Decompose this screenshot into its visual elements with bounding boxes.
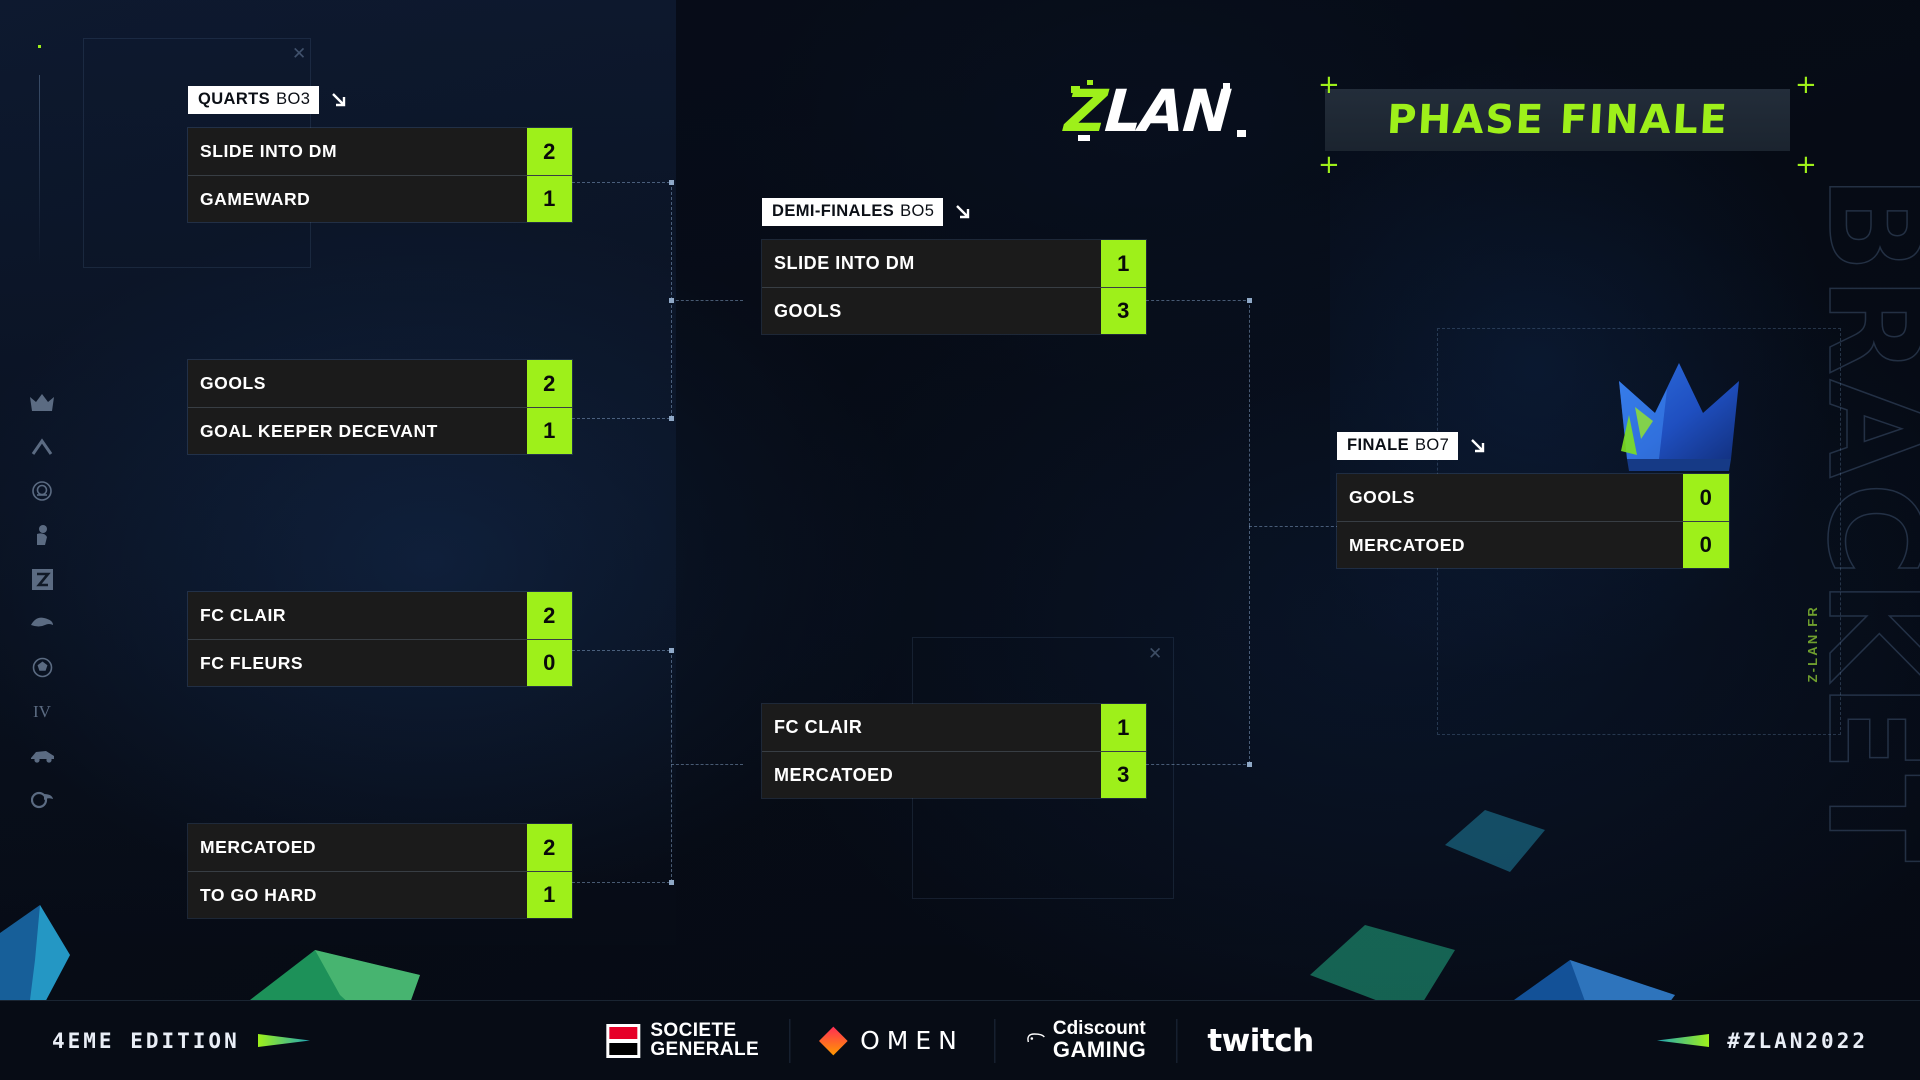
round-name-finale: FINALE [1347,436,1409,455]
round-chip-finale: FINALE BO7 [1337,432,1458,460]
crown-icon[interactable] [29,390,55,416]
match-card-qf4[interactable]: MERCATOED 2 TO GO HARD 1 [188,824,572,918]
team-score: 1 [1101,240,1146,287]
connector-qf4 [572,882,670,883]
round-label-demifinales: DEMI-FINALES BO5 [762,198,973,226]
match-row[interactable]: MERCATOED 3 [762,751,1146,798]
sidebar-icon-list: IV [22,390,62,812]
zlan-logo-z: Z [1063,82,1107,140]
connector-v-top [671,182,672,300]
match-card-sf1[interactable]: SLIDE INTO DM 1 GOOLS 3 [762,240,1146,334]
match-row[interactable]: GOOLS 3 [762,287,1146,334]
team-name: TO GO HARD [188,872,527,918]
phase-title-panel: PHASE FINALE [1325,89,1790,151]
sponsor-line1: Cdiscount [1053,1018,1146,1039]
match-row[interactable]: TO GO HARD 1 [188,871,572,918]
team-score: 3 [1101,752,1146,798]
team-name: GOOLS [188,360,527,407]
logo-glitch-3 [1223,83,1230,89]
phase-title: PHASE FINALE [1386,97,1730,143]
corner-plus-bottom-left: + [1318,152,1340,178]
gradient-arrow-left-icon [1657,1032,1709,1049]
zlan-logo-lan: LAN [1103,82,1231,140]
match-row[interactable]: MERCATOED 2 [188,824,572,871]
omen-diamond-icon [819,1026,848,1055]
team-score: 2 [527,824,572,871]
round-format-finale: BO7 [1415,436,1449,455]
connector-qf1 [572,182,670,183]
team-score: 1 [527,176,572,222]
numeral-four-icon[interactable]: IV [29,698,55,724]
connector-sf2 [1146,764,1251,765]
corner-plus-top-left: + [1318,72,1340,98]
connector-qf2 [572,418,670,419]
sponsor-label: twitch [1207,1023,1313,1059]
hashtag-label: #ZLAN2022 [1727,1029,1868,1053]
gamepad-icon [1025,1031,1047,1050]
round-label-quarts: QUARTS BO3 [188,86,349,114]
bracket-screen: ✕ ✕ QUARTS BO3 SLIDE INTO DM 2 GAM [0,0,1920,1080]
sponsor-societe-generale[interactable]: SOCIETE GENERALE [576,1019,789,1063]
footer-left-group: 4EME EDITION [52,1029,310,1053]
sponsor-line2: GENERALE [650,1039,759,1060]
connector-qf3 [572,650,670,651]
sponsor-label: Cdiscount GAMING [1053,1020,1146,1062]
team-name: FC CLAIR [188,592,527,639]
connector-node-sf2 [1247,762,1252,767]
sponsor-label: OMEN [860,1026,964,1055]
creature-icon[interactable] [29,610,55,636]
emblem-circle-icon[interactable] [29,478,55,504]
round-format-demifinales: BO5 [900,202,934,221]
team-score: 0 [1683,474,1729,521]
crown-icon [1615,355,1775,475]
sponsor-twitch[interactable]: twitch [1176,1019,1343,1063]
arrow-down-right-icon [1469,437,1488,456]
soccer-ball-icon[interactable] [29,654,55,680]
round-chip-quarts: QUARTS BO3 [188,86,319,114]
guide-marker-semifinal: ✕ [1148,645,1162,662]
connector-node-qf2 [669,416,674,421]
connector-node-sf1 [1247,298,1252,303]
team-score: 2 [527,592,572,639]
connector-to-sf2 [671,764,743,765]
sidebar-accent-dot [38,45,41,48]
footer-bar: 4EME EDITION SOCIETE GENERALE O [0,1000,1920,1080]
match-row[interactable]: GOOLS 2 [188,360,572,407]
round-chip-demifinales: DEMI-FINALES BO5 [762,198,943,226]
team-score: 1 [527,872,572,918]
team-name: GOOLS [762,288,1101,334]
edition-label: 4EME EDITION [52,1029,240,1053]
team-name: SLIDE INTO DM [188,128,527,175]
website-vertical-label: Z-LAN.FR [1805,605,1820,683]
connector-node-sf1in [669,298,674,303]
bracket-vertical-label: BRACKET [1818,175,1920,866]
logo-glitch-1 [1071,86,1080,93]
figure-icon[interactable] [29,522,55,548]
match-row[interactable]: FC CLAIR 1 [762,704,1146,751]
logo-glitch-2 [1087,80,1093,85]
guide-marker-quarts: ✕ [292,45,306,62]
match-row[interactable]: MERCATOED 0 [1337,521,1729,568]
sponsor-omen[interactable]: OMEN [789,1019,994,1063]
team-name: GAMEWARD [188,176,527,222]
match-row[interactable]: FC FLEURS 0 [188,639,572,686]
zlan-logo: Z LAN [1065,80,1229,142]
team-score: 1 [1101,704,1146,751]
societe-generale-logo-icon [606,1024,640,1058]
round-label-finale: FINALE BO7 [1337,432,1488,460]
team-score: 1 [527,408,572,454]
corner-plus-bottom-right: + [1795,152,1817,178]
round-name-demifinales: DEMI-FINALES [772,202,894,221]
connector-node-qf3 [669,648,674,653]
connector-to-sf1 [671,300,743,301]
sponsor-label: SOCIETE GENERALE [650,1022,759,1059]
team-name: SLIDE INTO DM [762,240,1101,287]
connector-sf1 [1146,300,1251,301]
connector-node-qf1 [669,180,674,185]
team-name: FC FLEURS [188,640,527,686]
match-card-qf1[interactable]: SLIDE INTO DM 2 GAMEWARD 1 [188,128,572,222]
team-name: MERCATOED [762,752,1101,798]
flame-icon[interactable] [29,786,55,812]
team-name: MERCATOED [188,824,527,871]
sponsor-cdiscount-gaming[interactable]: Cdiscount GAMING [994,1019,1176,1063]
arrow-down-right-icon [330,91,349,110]
crystal-decor-right-1 [1440,800,1550,880]
connector-v-final-bot [1249,526,1250,764]
car-icon[interactable] [29,742,55,768]
chevron-up-icon[interactable] [29,434,55,460]
connector-node-qf4 [669,880,674,885]
match-row[interactable]: SLIDE INTO DM 2 [188,128,572,175]
connector-v-final-top [1249,300,1250,526]
match-card-qf3[interactable]: FC CLAIR 2 FC FLEURS 0 [188,592,572,686]
match-card-qf2[interactable]: GOOLS 2 GOAL KEEPER DECEVANT 1 [188,360,572,454]
team-name: MERCATOED [1337,522,1683,568]
sponsor-line2: GAMING [1053,1037,1146,1062]
round-name-quarts: QUARTS [198,90,270,109]
sponsor-list: SOCIETE GENERALE OMEN Cdiscount GAMING [576,1019,1343,1063]
gradient-arrow-right-icon [258,1032,310,1049]
connector-v-bot [671,650,672,882]
team-score: 2 [527,128,572,175]
connector-v-top2 [671,300,672,418]
team-score: 2 [527,360,572,407]
match-card-sf2[interactable]: FC CLAIR 1 MERCATOED 3 [762,704,1146,798]
sidebar-rail [39,75,40,265]
z-box-icon[interactable] [29,566,55,592]
match-card-final[interactable]: GOOLS 0 MERCATOED 0 [1337,474,1729,568]
arrow-down-right-icon [954,203,973,222]
connector-to-final [1249,526,1339,527]
footer-right-group: #ZLAN2022 [1657,1029,1868,1053]
corner-plus-top-right: + [1795,72,1817,98]
round-format-quarts: BO3 [276,90,310,109]
team-name: GOAL KEEPER DECEVANT [188,408,527,454]
logo-glitch-4 [1237,130,1246,137]
team-score: 0 [527,640,572,686]
logo-glitch-5 [1078,135,1090,141]
match-row[interactable]: SLIDE INTO DM 1 [762,240,1146,287]
team-score: 3 [1101,288,1146,334]
match-row[interactable]: GOAL KEEPER DECEVANT 1 [188,407,572,454]
match-row[interactable]: GAMEWARD 1 [188,175,572,222]
team-score: 0 [1683,522,1729,568]
match-row[interactable]: FC CLAIR 2 [188,592,572,639]
match-row[interactable]: GOOLS 0 [1337,474,1729,521]
team-name: GOOLS [1337,474,1683,521]
team-name: FC CLAIR [762,704,1101,751]
